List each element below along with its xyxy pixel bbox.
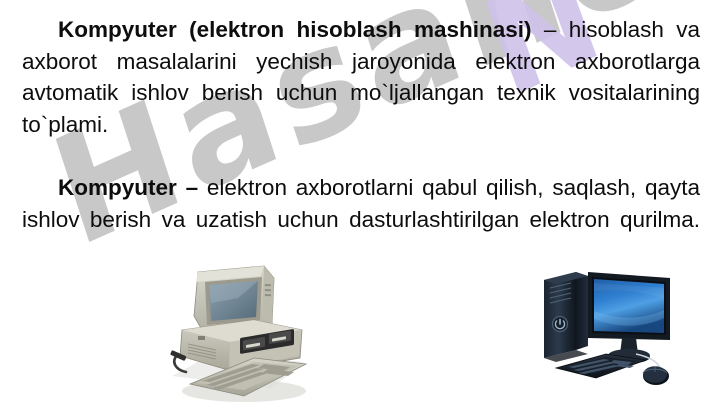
definition-paragraph-2: Kompyuter – elektron axborotlarni qabul …: [22, 172, 700, 267]
modern-desktop-computer-image: [530, 258, 690, 390]
definition-paragraph-1: Kompyuter (elektron hisoblash mashinasi)…: [22, 14, 700, 172]
slide-canvas: Hasanov N Kompyuter (elektron hisoblash …: [0, 0, 720, 406]
definition-term-1: Kompyuter (elektron hisoblash mashinasi): [58, 17, 532, 42]
definition-term-2: Kompyuter –: [58, 175, 198, 200]
vintage-personal-computer-image: [168, 258, 308, 406]
slide-text-body: Kompyuter (elektron hisoblash mashinasi)…: [22, 14, 700, 267]
